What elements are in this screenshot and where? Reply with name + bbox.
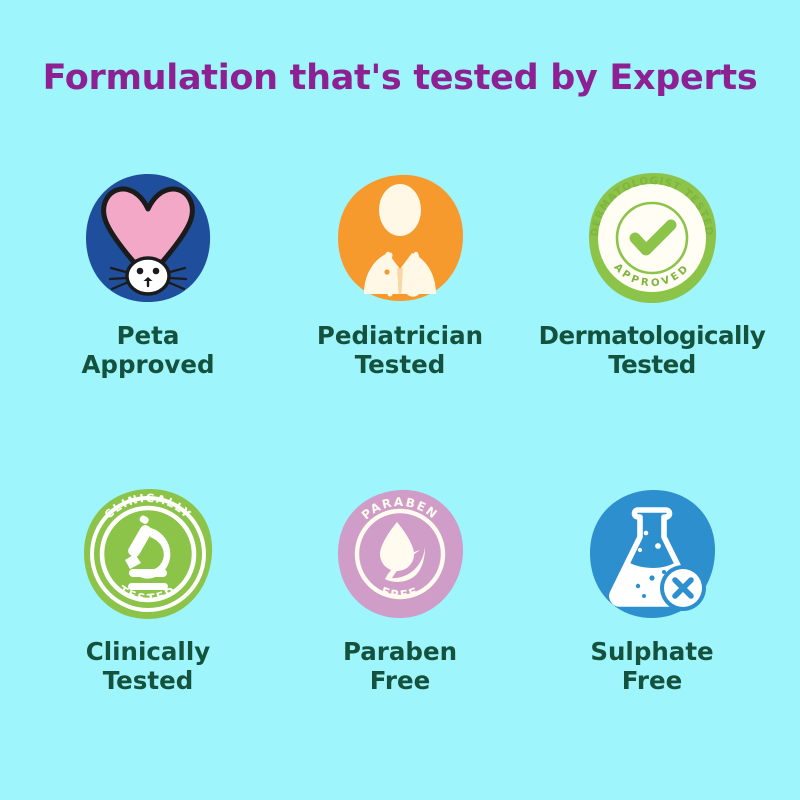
page-title: Formulation that's tested by Experts xyxy=(0,58,800,98)
droplet-leaf-icon: PARABEN FREE xyxy=(330,484,470,624)
doctor-stethoscope-icon xyxy=(330,168,470,308)
clinically-badge-art: CLINICALLY TESTED xyxy=(78,484,218,624)
badge-label: Pediatrician Tested xyxy=(317,322,483,380)
badge-item-sulphate-free[interactable]: Sulphate Free xyxy=(526,484,778,696)
promo-panel: Formulation that's tested by Experts xyxy=(0,0,800,800)
badge-item-paraben-free[interactable]: PARABEN FREE Paraben Free xyxy=(274,484,526,696)
flask-no-icon xyxy=(582,484,722,624)
badge-item-pediatrician-tested[interactable]: Pediatrician Tested xyxy=(274,168,526,380)
paraben-badge-art: PARABEN FREE xyxy=(330,484,470,624)
badge-label: Dermatologically Tested xyxy=(539,322,766,380)
badge-item-peta-approved[interactable]: Peta Approved xyxy=(22,168,274,380)
badge-label: Clinically Tested xyxy=(86,638,210,696)
sulphate-badge-art xyxy=(582,484,722,624)
checkmark-seal-icon: DERMATOLOGIST TESTED APPROVED xyxy=(582,168,722,308)
badge-label: Peta Approved xyxy=(81,322,214,380)
pediatrician-badge-art xyxy=(330,168,470,308)
dermatologist-badge-art: DERMATOLOGIST TESTED APPROVED xyxy=(582,168,722,308)
badge-item-clinically-tested[interactable]: CLINICALLY TESTED Clinically Tested xyxy=(22,484,274,696)
badge-item-dermatologically-tested[interactable]: DERMATOLOGIST TESTED APPROVED Dermatolog… xyxy=(526,168,778,380)
peta-badge-art xyxy=(78,168,218,308)
badge-row: CLINICALLY TESTED Clinically Tested xyxy=(22,484,778,696)
badge-label: Sulphate Free xyxy=(590,638,713,696)
bunny-heart-icon xyxy=(78,168,218,308)
badge-grid: Peta Approved xyxy=(22,168,778,696)
badge-label: Paraben Free xyxy=(343,638,457,696)
microscope-seal-icon: CLINICALLY TESTED xyxy=(78,484,218,624)
badge-row: Peta Approved xyxy=(22,168,778,380)
